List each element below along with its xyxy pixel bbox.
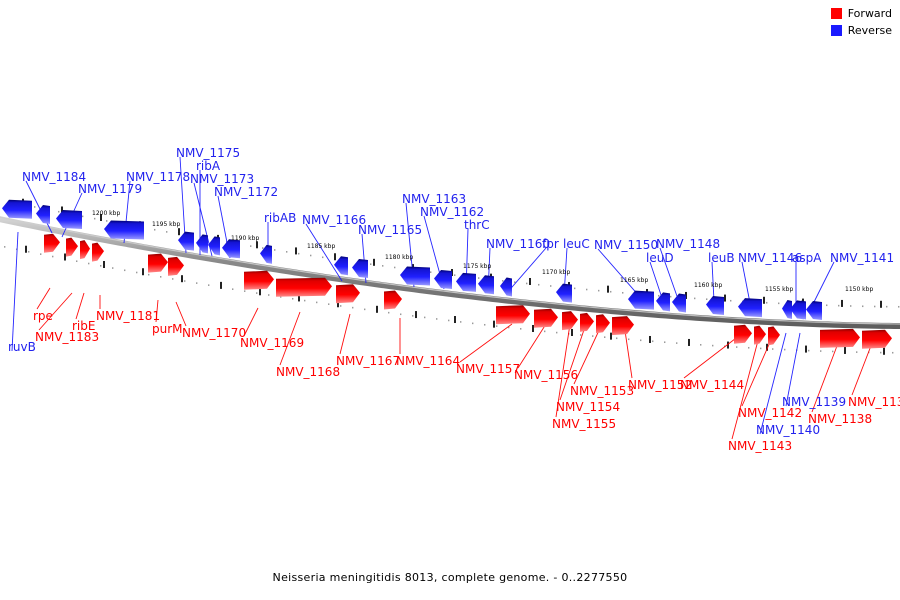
gene-label-nmv-1153[interactable]: NMV_1153: [570, 385, 634, 397]
gene-feature[interactable]: [596, 314, 610, 333]
gene-features: [2, 200, 892, 349]
gene-label-ribe[interactable]: ribE: [72, 320, 95, 332]
gene-feature[interactable]: [148, 254, 168, 273]
gene-label-nmv-1167[interactable]: NMV_1167: [336, 355, 400, 367]
gene-feature[interactable]: [104, 220, 144, 239]
gene-feature[interactable]: [456, 273, 476, 292]
gene-label-nmv-1184[interactable]: NMV_1184: [22, 171, 86, 183]
gene-feature[interactable]: [66, 238, 78, 257]
legend-swatch-forward: [831, 8, 842, 19]
gene-feature[interactable]: [672, 294, 686, 313]
scale-label: 1150 kbp: [845, 287, 873, 293]
gene-feature[interactable]: [738, 298, 762, 317]
gene-feature[interactable]: [562, 311, 578, 330]
gene-label-aspa[interactable]: aspA: [792, 252, 821, 264]
scale-label: 1180 kbp: [385, 255, 413, 261]
gene-label-nmv-1175[interactable]: NMV_1175: [176, 147, 240, 159]
gene-label-nmv-1178[interactable]: NMV_1178: [126, 171, 190, 183]
gene-label-nmv-1138[interactable]: NMV_1138: [808, 413, 872, 425]
gene-feature[interactable]: [806, 301, 822, 320]
gene-feature[interactable]: [208, 236, 220, 255]
gene-label-nmv-1173[interactable]: NMV_1173: [190, 173, 254, 185]
gene-feature[interactable]: [56, 210, 82, 229]
gene-label-nmv-1156[interactable]: NMV_1156: [514, 369, 578, 381]
scale-label: 1190 kbp: [231, 236, 259, 242]
gene-label-nmv-1139[interactable]: NMV_1139: [782, 396, 846, 408]
gene-feature[interactable]: [196, 234, 208, 253]
gene-feature[interactable]: [44, 234, 60, 253]
gene-label-leub[interactable]: leuB: [708, 252, 735, 264]
gene-feature[interactable]: [768, 326, 780, 345]
gene-feature[interactable]: [400, 266, 430, 285]
gene-feature[interactable]: [478, 275, 494, 294]
gene-label-nmv-1162[interactable]: NMV_1162: [420, 206, 484, 218]
gene-label-nmv-1165[interactable]: NMV_1165: [358, 224, 422, 236]
scale-label: 1165 kbp: [620, 278, 648, 284]
legend-label-reverse: Reverse: [848, 25, 892, 36]
gene-feature[interactable]: [734, 325, 752, 344]
gene-label-nmv-1160[interactable]: NMV_1160: [486, 238, 550, 250]
gene-feature[interactable]: [782, 300, 792, 319]
gene-label-nmv-1141[interactable]: NMV_1141: [830, 252, 894, 264]
legend-label-forward: Forward: [848, 8, 892, 19]
gene-feature[interactable]: [534, 309, 558, 328]
gene-label-nmv-1163[interactable]: NMV_1163: [402, 193, 466, 205]
gene-label-nmv-1137[interactable]: NMV_1137: [848, 396, 900, 408]
gene-label-nmv-1181[interactable]: NMV_1181: [96, 310, 160, 322]
gene-label-fpr[interactable]: fpr: [542, 238, 559, 250]
gene-label-nmv-1150[interactable]: NMV_1150: [594, 239, 658, 251]
gene-feature[interactable]: [244, 271, 274, 290]
gene-label-nmv-1179[interactable]: NMV_1179: [78, 183, 142, 195]
genome-map-stage: 1200 kbp1195 kbp1190 kbp1185 kbp1180 kbp…: [0, 0, 900, 600]
gene-label-riba[interactable]: ribA: [196, 160, 220, 172]
gene-label-nmv-1143[interactable]: NMV_1143: [728, 440, 792, 452]
gene-label-nmv-1154[interactable]: NMV_1154: [556, 401, 620, 413]
gene-feature[interactable]: [80, 240, 90, 259]
gene-label-nmv-1169[interactable]: NMV_1169: [240, 337, 304, 349]
gene-label-nmv-1164[interactable]: NMV_1164: [396, 355, 460, 367]
gene-feature[interactable]: [628, 291, 654, 310]
legend-item-reverse: Reverse: [831, 23, 892, 38]
gene-feature[interactable]: [754, 326, 766, 345]
gene-feature[interactable]: [612, 316, 634, 335]
gene-label-ruvb[interactable]: ruvB: [8, 341, 36, 353]
scale-label: 1195 kbp: [152, 222, 180, 228]
gene-label-nmv-1168[interactable]: NMV_1168: [276, 366, 340, 378]
gene-feature[interactable]: [434, 270, 452, 289]
gene-feature[interactable]: [92, 243, 104, 262]
gene-feature[interactable]: [260, 245, 272, 264]
gene-feature[interactable]: [178, 232, 194, 251]
gene-label-leud[interactable]: leuD: [646, 252, 674, 264]
gene-label-nmv-1144[interactable]: NMV_1144: [680, 379, 744, 391]
genome-map-canvas: [0, 0, 900, 600]
gene-label-nmv-1157[interactable]: NMV_1157: [456, 363, 520, 375]
figure-caption: Neisseria meningitidis 8013, complete ge…: [0, 571, 900, 584]
gene-feature[interactable]: [384, 291, 402, 310]
gene-label-nmv-1166[interactable]: NMV_1166: [302, 214, 366, 226]
gene-label-ribab[interactable]: ribAB: [264, 212, 296, 224]
gene-label-purm[interactable]: purM: [152, 323, 183, 335]
gene-label-rpe[interactable]: rpe: [33, 310, 53, 322]
gene-label-thrc[interactable]: thrC: [464, 219, 490, 231]
gene-feature[interactable]: [580, 313, 594, 332]
scale-label: 1170 kbp: [542, 270, 570, 276]
scale-label: 1200 kbp: [92, 211, 120, 217]
gene-feature[interactable]: [336, 284, 360, 303]
gene-feature[interactable]: [222, 239, 240, 258]
scale-label: 1160 kbp: [694, 283, 722, 289]
gene-feature[interactable]: [2, 200, 32, 219]
scale-label: 1175 kbp: [463, 264, 491, 270]
gene-feature[interactable]: [820, 329, 860, 348]
legend-item-forward: Forward: [831, 6, 892, 21]
gene-feature[interactable]: [862, 330, 892, 349]
scale-label: 1155 kbp: [765, 287, 793, 293]
gene-feature[interactable]: [500, 277, 512, 296]
legend: Forward Reverse: [831, 6, 892, 40]
gene-label-nmv-1172[interactable]: NMV_1172: [214, 186, 278, 198]
gene-feature[interactable]: [556, 284, 572, 303]
gene-label-nmv-1148[interactable]: NMV_1148: [656, 238, 720, 250]
gene-label-nmv-1170[interactable]: NMV_1170: [182, 327, 246, 339]
gene-label-leuc[interactable]: leuC: [563, 238, 590, 250]
legend-swatch-reverse: [831, 25, 842, 36]
gene-feature[interactable]: [352, 259, 368, 278]
gene-feature[interactable]: [36, 205, 50, 224]
gene-feature[interactable]: [496, 305, 530, 324]
gene-feature[interactable]: [168, 257, 184, 276]
gene-feature[interactable]: [706, 296, 724, 315]
gene-label-nmv-1155[interactable]: NMV_1155: [552, 418, 616, 430]
scale-label: 1185 kbp: [307, 244, 335, 250]
gene-feature[interactable]: [276, 278, 332, 297]
